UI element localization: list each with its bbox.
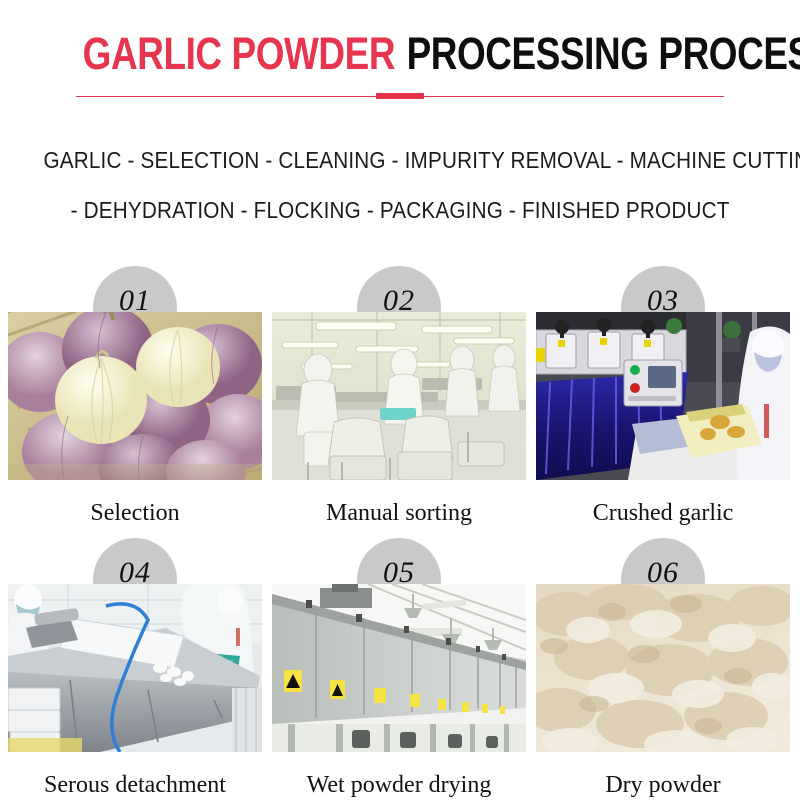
divider-line-left: [76, 96, 376, 97]
step-card-02: 02: [272, 266, 526, 538]
step-photo-drying-tunnel: [272, 584, 526, 752]
step-caption: Dry powder: [536, 752, 790, 800]
step-card-06: 06: [536, 538, 790, 800]
process-flow-text: GARLIC - SELECTION - CLEANING - IMPURITY…: [0, 135, 800, 235]
title-highlight: GARLIC POWDER: [83, 28, 395, 79]
process-flow-line-2: - DEHYDRATION - FLOCKING - PACKAGING - F…: [71, 185, 730, 235]
step-photo-garlic-bulbs: [8, 312, 262, 480]
steps-grid: 01: [8, 266, 790, 800]
step-card-01: 01: [8, 266, 262, 538]
step-caption: Selection: [8, 480, 262, 538]
divider-line-right: [424, 96, 724, 97]
step-caption: Serous detachment: [8, 752, 262, 800]
title-rest: PROCESSING PROCESS: [395, 28, 800, 79]
step-card-03: 03: [536, 266, 790, 538]
title-divider: [0, 93, 800, 99]
step-card-05: 05: [272, 538, 526, 800]
process-flow-line-1: GARLIC - SELECTION - CLEANING - IMPURITY…: [43, 135, 800, 185]
page-title: GARLIC POWDERPROCESSING PROCESS: [0, 28, 800, 80]
step-card-04: 04: [8, 538, 262, 800]
step-photo-crushing-machine: [536, 312, 790, 480]
divider-center-block: [376, 93, 424, 99]
step-caption: Crushed garlic: [536, 480, 790, 538]
step-photo-manual-sorting: [272, 312, 526, 480]
step-caption: Wet powder drying: [272, 752, 526, 800]
step-caption: Manual sorting: [272, 480, 526, 538]
infographic-page: GARLIC POWDERPROCESSING PROCESS GARLIC -…: [0, 0, 800, 800]
step-photo-serous-detachment-machine: [8, 584, 262, 752]
step-photo-dry-powder: [536, 584, 790, 752]
